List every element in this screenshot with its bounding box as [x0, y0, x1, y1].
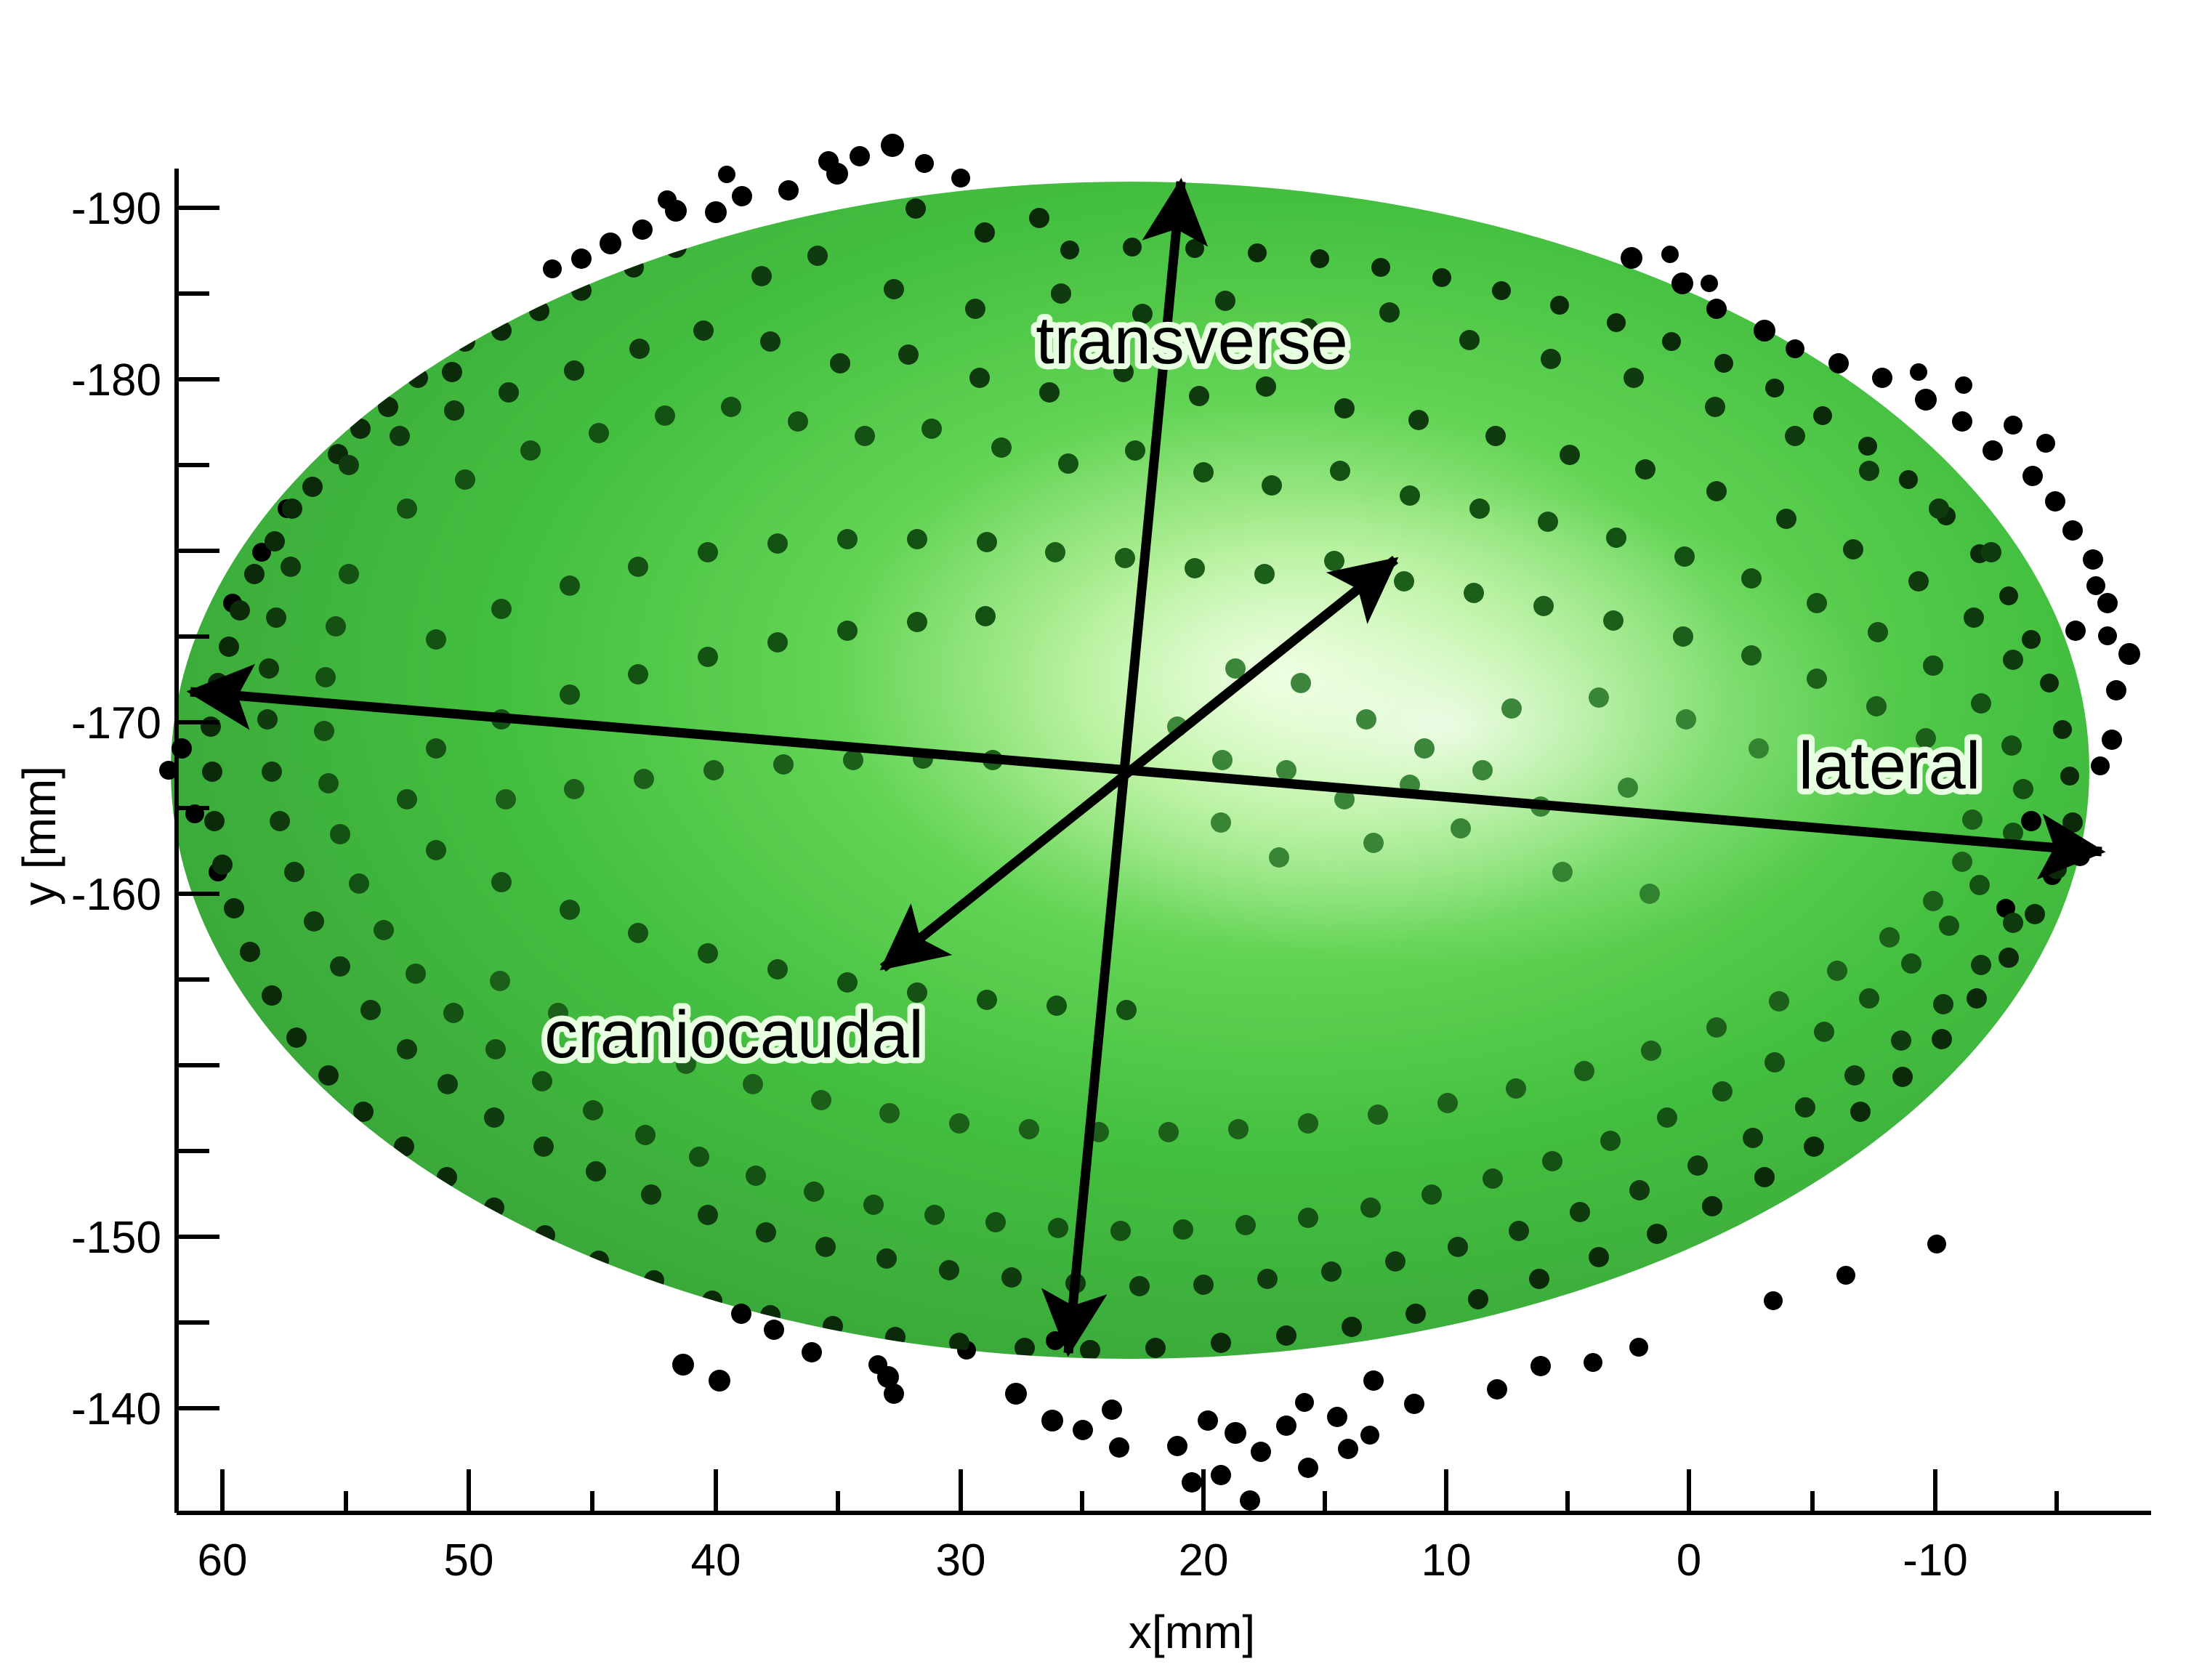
y-tick-label: -160: [71, 870, 161, 920]
transverse-label: transverse: [1036, 304, 1348, 378]
y-tick-label: -150: [71, 1213, 161, 1263]
y-tick-label: -190: [71, 184, 161, 234]
y-axis-title: y [mm]: [13, 766, 65, 905]
x-tick-label: 0: [1677, 1535, 1701, 1586]
x-tick-label: 10: [1421, 1535, 1472, 1586]
x-axis-title: x[mm]: [1129, 1606, 1255, 1658]
x-tick-label: 40: [691, 1535, 741, 1586]
y-tick-label: -170: [71, 698, 161, 748]
scatter-figure: transverse transverse lateral lateral cr…: [0, 0, 2186, 1680]
x-tick-label: 50: [444, 1535, 494, 1586]
y-tick-label: -140: [71, 1384, 161, 1434]
plot-canvas: transverse transverse lateral lateral cr…: [0, 0, 2186, 1680]
y-tick-labels: -190 -180 -170 -160 -150 -140: [71, 184, 161, 1434]
y-tick-label: -180: [71, 355, 161, 405]
craniocaudal-label: craniocaudal: [544, 998, 924, 1072]
x-axis-ticks: [222, 1469, 2057, 1513]
lateral-label: lateral: [1799, 729, 1981, 803]
x-tick-label: 20: [1179, 1535, 1229, 1586]
x-tick-label: 30: [936, 1535, 986, 1586]
x-tick-label: 60: [198, 1535, 248, 1586]
x-tick-label: -10: [1903, 1535, 1968, 1586]
x-tick-labels: 60 50 40 30 20 10 0 -10: [198, 1535, 1968, 1586]
